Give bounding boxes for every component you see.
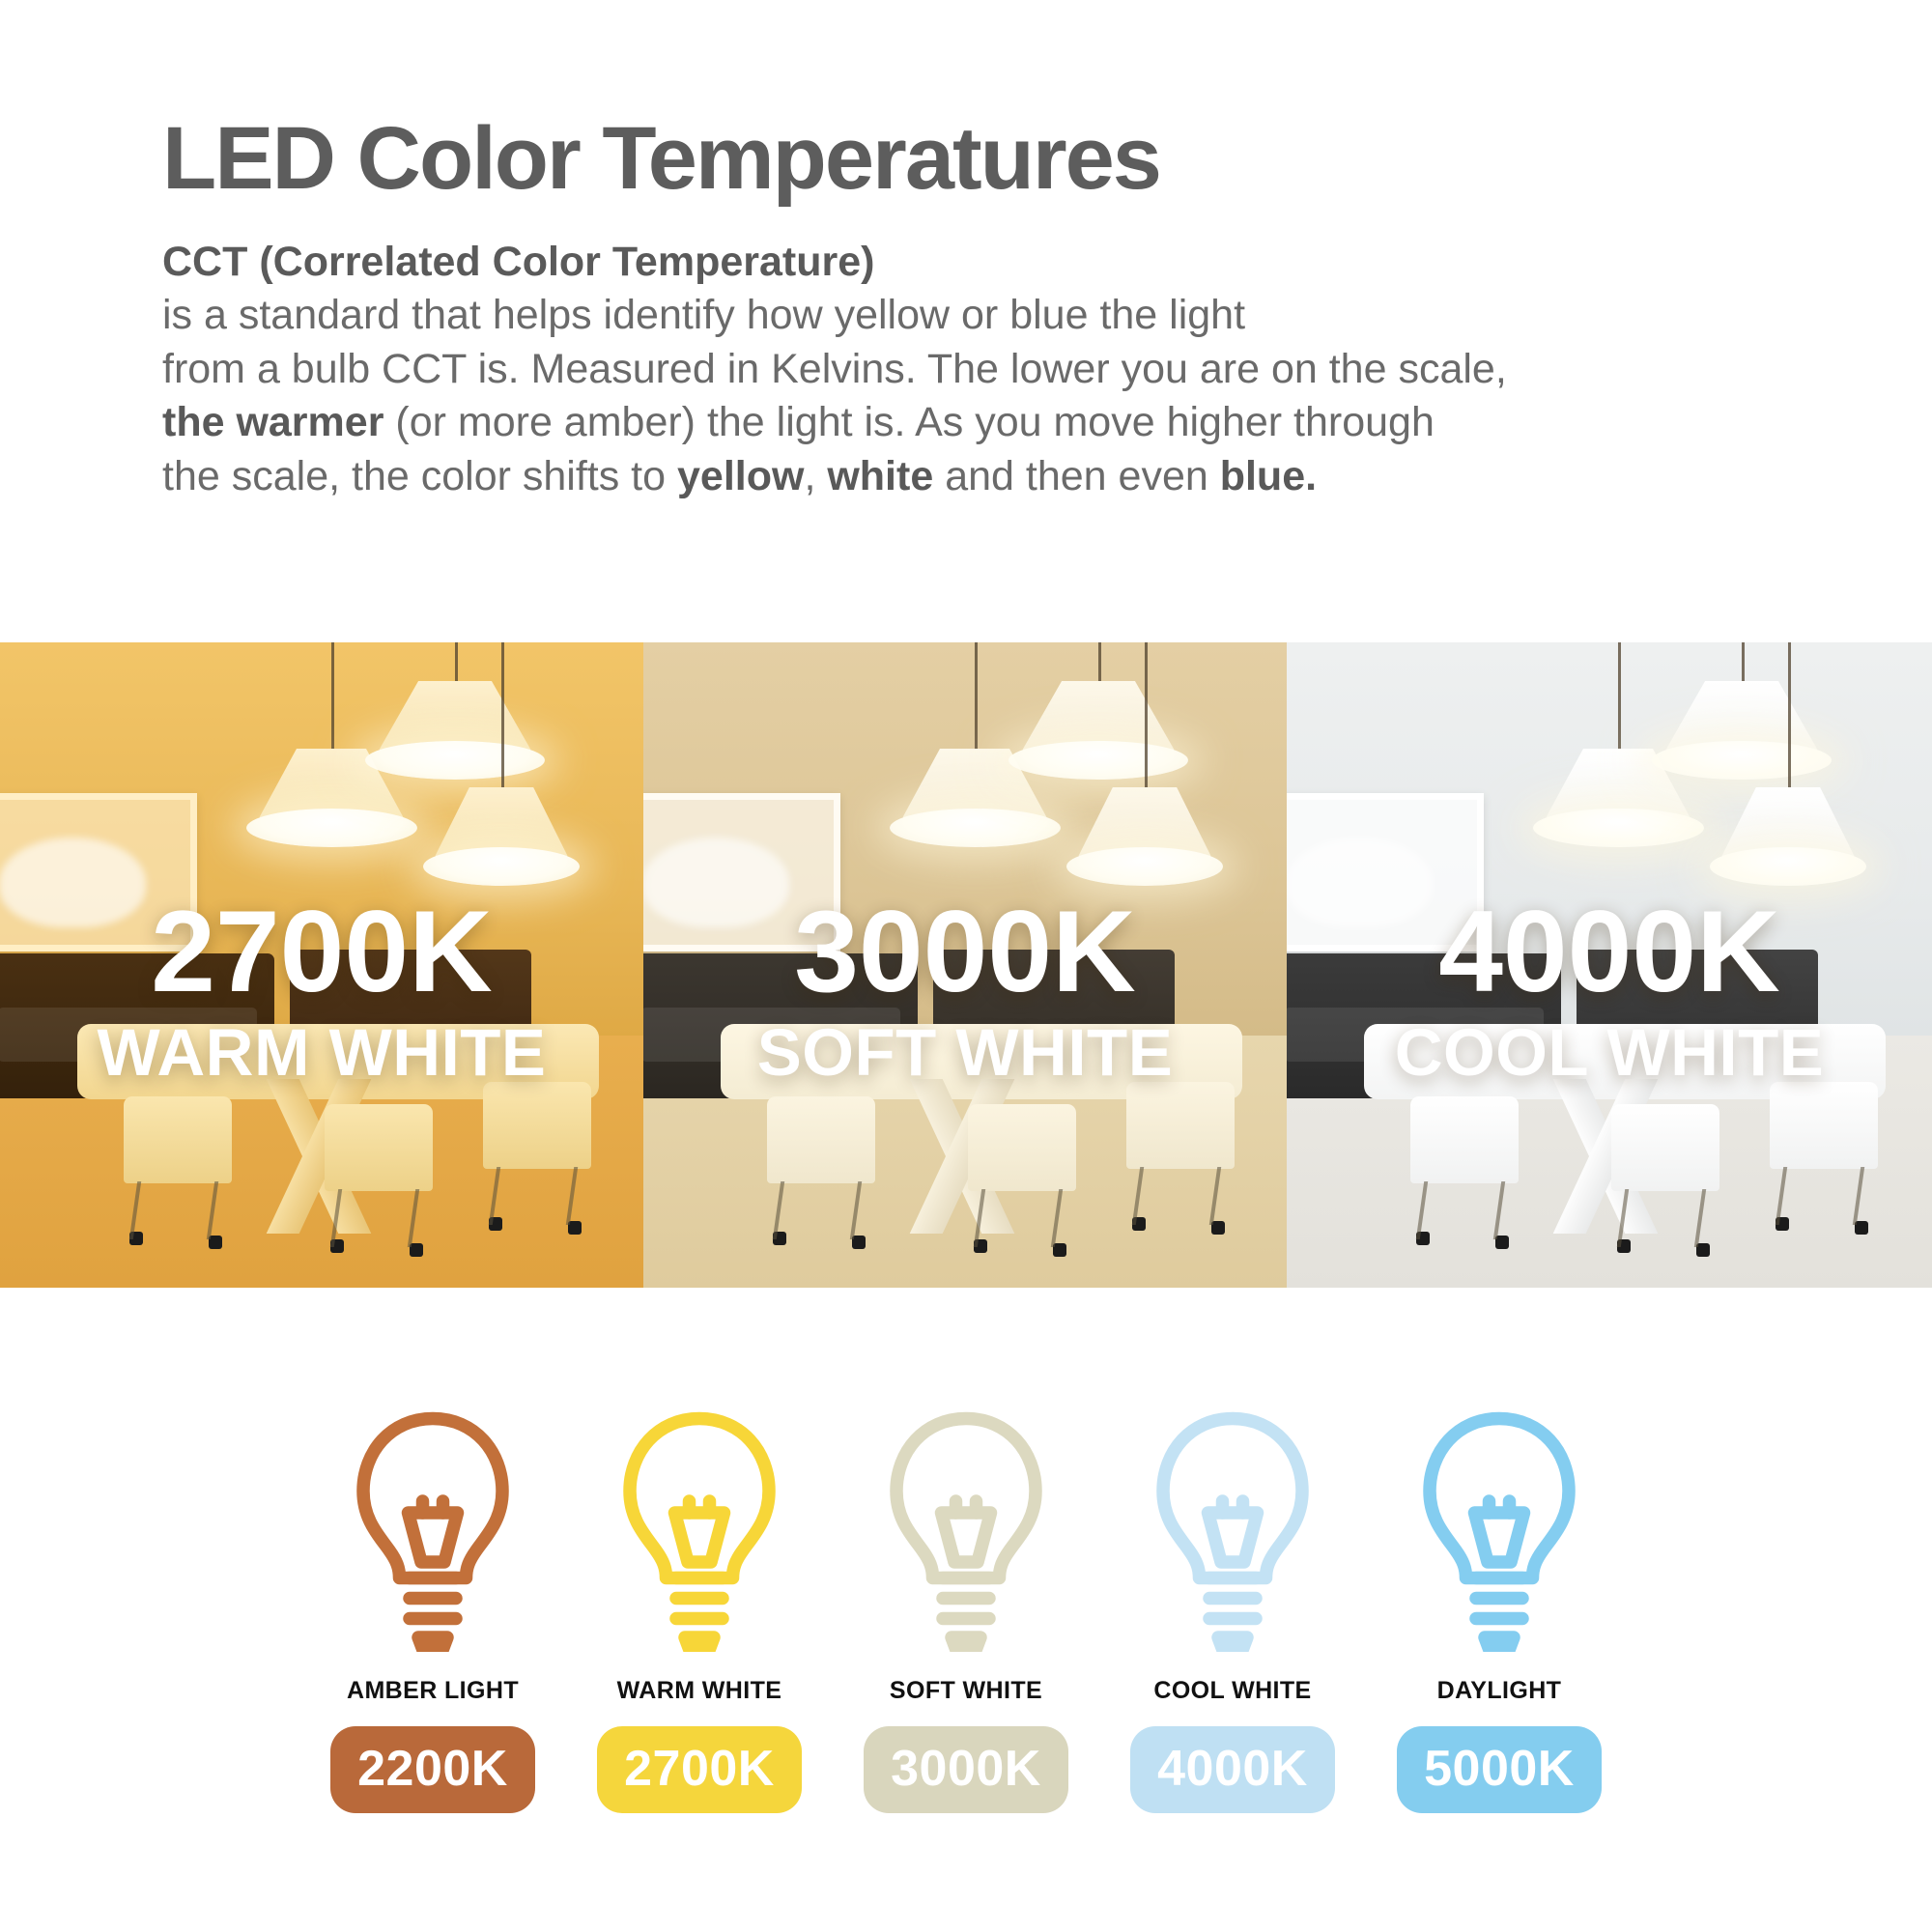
intro-line-4-a: the scale, the color shifts to <box>162 453 677 499</box>
lightbulb-icon <box>346 1391 520 1652</box>
scale-label: SOFT WHITE <box>890 1677 1042 1705</box>
wall-art-frame <box>0 793 197 952</box>
kelvin-pill[interactable]: 2700K <box>597 1726 802 1813</box>
kelvin-scale-row: AMBER LIGHT 2200K WARM WHITE 2700K <box>0 1391 1932 1813</box>
lamp-cord <box>501 642 504 797</box>
intro-emphasis-white: white <box>827 453 933 499</box>
scale-label: DAYLIGHT <box>1437 1677 1562 1705</box>
lamp-glow <box>890 809 1061 847</box>
scale-label: WARM WHITE <box>617 1677 782 1705</box>
intro-line-4-c: , <box>804 453 827 499</box>
kelvin-pill[interactable]: 5000K <box>1397 1726 1602 1813</box>
scale-item-warm-white: WARM WHITE 2700K <box>566 1391 833 1813</box>
chair <box>1611 1104 1719 1191</box>
lightbulb-icon-svg <box>879 1408 1053 1652</box>
scale-item-daylight: DAYLIGHT 5000K <box>1366 1391 1633 1813</box>
lamp-glow <box>1652 741 1832 780</box>
lamp-glow <box>1066 847 1224 886</box>
photo-comparison-band: 2700K WARM WHITE 3000K SOFT WHITE <box>0 642 1932 1288</box>
lamp-glow <box>1710 847 1867 886</box>
intro-line-3: the warmer (or more amber) the light is.… <box>162 396 1727 449</box>
header-section: LED Color Temperatures CCT (Correlated C… <box>0 0 1932 503</box>
intro-lead: CCT (Correlated Color Temperature) <box>162 236 1727 289</box>
chair <box>767 1096 875 1183</box>
intro-line-2: from a bulb CCT is. Measured in Kelvins.… <box>162 343 1727 396</box>
lightbulb-icon-svg <box>1146 1408 1320 1652</box>
lamp-glow <box>1533 809 1704 847</box>
intro-emphasis-blue: blue. <box>1220 453 1317 499</box>
kelvin-pill[interactable]: 4000K <box>1130 1726 1335 1813</box>
intro-line-4-d: and then even <box>933 453 1219 499</box>
lamp-cord <box>975 642 978 758</box>
lightbulb-icon-svg <box>346 1408 520 1652</box>
lamp-cord <box>1145 642 1148 797</box>
lamp-cord <box>1618 642 1621 758</box>
lamp-glow <box>246 809 417 847</box>
lamp-glow <box>365 741 545 780</box>
lamp-cord <box>331 642 334 758</box>
lightbulb-icon-svg <box>612 1408 786 1652</box>
room-scene-soft <box>643 642 1287 1288</box>
lightbulb-icon <box>1412 1391 1586 1652</box>
intro-paragraph: CCT (Correlated Color Temperature) is a … <box>162 236 1727 503</box>
chair <box>483 1082 591 1169</box>
photo-panel-2700k: 2700K WARM WHITE <box>0 642 643 1288</box>
scale-item-soft-white: SOFT WHITE 3000K <box>833 1391 1099 1813</box>
lamp-cord <box>1788 642 1791 797</box>
room-scene-warm <box>0 642 643 1288</box>
room-scene-cool <box>1287 642 1932 1288</box>
scale-item-amber-light: AMBER LIGHT 2200K <box>299 1391 566 1813</box>
lightbulb-icon <box>612 1391 786 1652</box>
chair <box>124 1096 232 1183</box>
chair <box>968 1104 1076 1191</box>
intro-line-1: is a standard that helps identify how ye… <box>162 289 1727 342</box>
lamp-glow <box>423 847 581 886</box>
kelvin-pill[interactable]: 2200K <box>330 1726 535 1813</box>
intro-emphasis-yellow: yellow <box>677 453 804 499</box>
chair <box>325 1104 433 1191</box>
intro-line-3-rest: (or more amber) the light is. As you mov… <box>384 399 1434 445</box>
lightbulb-icon <box>1146 1391 1320 1652</box>
photo-panel-4000k: 4000K COOL WHITE <box>1287 642 1932 1288</box>
chair <box>1126 1082 1235 1169</box>
chair <box>1410 1096 1519 1183</box>
lightbulb-icon <box>879 1391 1053 1652</box>
photo-panel-3000k: 3000K SOFT WHITE <box>643 642 1287 1288</box>
scale-item-cool-white: COOL WHITE 4000K <box>1099 1391 1366 1813</box>
kelvin-pill[interactable]: 3000K <box>864 1726 1068 1813</box>
page-title: LED Color Temperatures <box>162 114 1932 203</box>
lamp-glow <box>1009 741 1188 780</box>
scale-label: COOL WHITE <box>1153 1677 1311 1705</box>
chair <box>1770 1082 1878 1169</box>
lightbulb-icon-svg <box>1412 1408 1586 1652</box>
intro-emphasis-warmer: the warmer <box>162 399 384 445</box>
wall-art-frame <box>1287 793 1484 952</box>
scale-label: AMBER LIGHT <box>347 1677 519 1705</box>
wall-art-frame <box>643 793 840 952</box>
intro-line-4: the scale, the color shifts to yellow, w… <box>162 450 1727 503</box>
